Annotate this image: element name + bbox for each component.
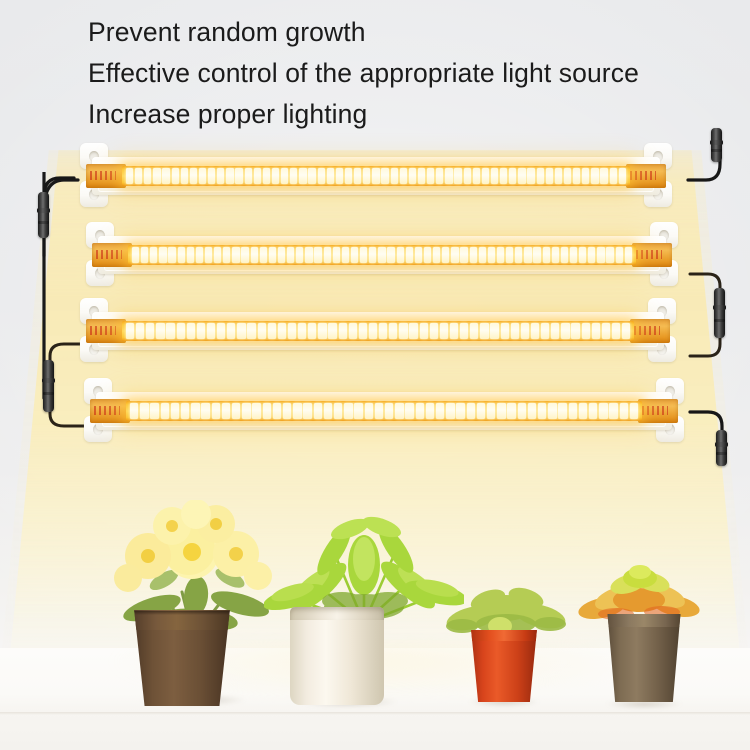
led-segment <box>381 168 388 184</box>
led-segment <box>278 247 285 263</box>
led-segment <box>252 403 260 419</box>
led-segment <box>354 168 361 184</box>
pot-rim <box>130 610 234 630</box>
led-segment <box>473 168 480 184</box>
led-segment <box>409 323 417 339</box>
led-array <box>125 323 631 339</box>
led-segment <box>227 323 235 339</box>
led-segment <box>126 168 133 184</box>
led-segment <box>426 403 434 419</box>
led-segment <box>365 403 373 419</box>
led-segment <box>260 247 267 263</box>
led-segment <box>555 168 562 184</box>
led-segment <box>500 168 507 184</box>
led-segment <box>387 247 394 263</box>
plant-fern: green fern <box>272 495 462 700</box>
product-image-scene: Prevent random growth Effective control … <box>0 0 750 750</box>
led-segment <box>146 323 154 339</box>
led-segment <box>197 323 205 339</box>
led-segment <box>187 323 195 339</box>
table-edge-line <box>0 712 750 715</box>
led-segment <box>451 247 458 263</box>
led-segment <box>208 168 215 184</box>
headline-line-3: Increase proper lighting <box>88 94 728 135</box>
led-segment <box>268 323 276 339</box>
led-segment <box>597 247 604 263</box>
led-segment <box>161 403 169 419</box>
led-segment <box>360 247 367 263</box>
led-segment <box>477 403 485 419</box>
led-segment <box>132 247 139 263</box>
led-segment <box>406 247 413 263</box>
led-segment <box>327 168 334 184</box>
led-segment <box>625 247 632 263</box>
led-segment <box>273 403 281 419</box>
led-segment <box>521 323 529 339</box>
led-segment <box>399 323 407 339</box>
led-segment <box>140 403 148 419</box>
led-segment <box>433 247 440 263</box>
led-segment <box>363 168 370 184</box>
led-segment <box>497 403 505 419</box>
led-segment <box>569 403 577 419</box>
led-segment <box>415 247 422 263</box>
led-segment <box>299 168 306 184</box>
led-segment <box>296 247 303 263</box>
driver-module <box>92 243 132 267</box>
plant-succulent: succulent rosette <box>580 556 710 706</box>
pot-rim <box>469 630 539 641</box>
led-segment <box>245 168 252 184</box>
led-segment <box>531 323 539 339</box>
led-segment <box>588 247 595 263</box>
led-segment <box>308 323 316 339</box>
led-segment <box>551 323 559 339</box>
led-segment <box>156 323 164 339</box>
led-segment <box>232 403 240 419</box>
led-segment <box>150 403 158 419</box>
led-segment <box>395 403 403 419</box>
led-segment <box>223 247 230 263</box>
led-segment <box>258 323 266 339</box>
led-segment <box>491 168 498 184</box>
led-array <box>125 168 627 184</box>
led-segment <box>501 323 509 339</box>
led-segment <box>616 247 623 263</box>
led-segment <box>379 323 387 339</box>
led-segment <box>543 247 550 263</box>
led-segment <box>592 323 600 339</box>
led-segment <box>359 323 367 339</box>
led-segment <box>537 168 544 184</box>
led-segment <box>196 247 203 263</box>
plant-small-leafy: small leafy plant <box>448 578 568 703</box>
led-strip <box>122 166 630 186</box>
led-segment <box>488 247 495 263</box>
led-array <box>129 403 639 419</box>
led-segment <box>506 247 513 263</box>
led-segment <box>171 403 179 419</box>
led-segment <box>187 247 194 263</box>
connector-top-left[interactable] <box>38 192 49 238</box>
led-segment <box>479 247 486 263</box>
led-segment <box>602 323 610 339</box>
led-segment <box>460 323 468 339</box>
led-segment <box>375 403 383 419</box>
light-bar-2[interactable]: LED grow light bar 2 <box>64 222 700 286</box>
connector-left-link[interactable] <box>43 360 54 412</box>
led-segment <box>251 247 258 263</box>
led-segment <box>232 247 239 263</box>
led-segment <box>272 168 279 184</box>
led-segment <box>480 323 488 339</box>
led-segment <box>548 403 556 419</box>
led-segment <box>324 247 331 263</box>
led-segment <box>620 403 628 419</box>
led-segment <box>135 168 142 184</box>
driver-module <box>630 319 670 343</box>
led-segment <box>436 403 444 419</box>
led-segment <box>591 168 598 184</box>
led-segment <box>281 168 288 184</box>
headline-block: Prevent random growth Effective control … <box>88 12 728 135</box>
led-segment <box>464 168 471 184</box>
led-segment <box>552 247 559 263</box>
led-segment <box>168 247 175 263</box>
led-segment <box>573 168 580 184</box>
led-segment <box>470 323 478 339</box>
led-segment <box>351 247 358 263</box>
led-segment <box>199 168 206 184</box>
led-segment <box>166 323 174 339</box>
led-segment <box>427 168 434 184</box>
led-segment <box>420 323 428 339</box>
light-bar-3[interactable]: LED grow light bar 3 <box>58 298 698 362</box>
led-segment <box>237 323 245 339</box>
led-segment <box>482 168 489 184</box>
headline-line-1: Prevent random growth <box>88 12 728 53</box>
led-segment <box>235 168 242 184</box>
led-segment <box>278 323 286 339</box>
led-segment <box>336 168 343 184</box>
led-segment <box>217 323 225 339</box>
led-segment <box>397 247 404 263</box>
led-segment <box>324 403 332 419</box>
led-segment <box>345 168 352 184</box>
led-segment <box>201 403 209 419</box>
plant-yellow-flowers: yellow flowering plant <box>110 500 290 700</box>
led-segment <box>318 168 325 184</box>
led-segment <box>354 403 362 419</box>
led-segment <box>582 323 590 339</box>
led-array <box>131 247 633 263</box>
led-segment <box>533 247 540 263</box>
led-segment <box>144 168 151 184</box>
led-segment <box>241 247 248 263</box>
led-segment <box>247 323 255 339</box>
led-segment <box>172 168 179 184</box>
led-segment <box>527 168 534 184</box>
led-segment <box>162 168 169 184</box>
led-segment <box>460 247 467 263</box>
led-segment <box>507 403 515 419</box>
led-segment <box>372 168 379 184</box>
led-segment <box>141 247 148 263</box>
led-segment <box>349 323 357 339</box>
led-segment <box>518 403 526 419</box>
connector-right-link[interactable] <box>714 288 725 338</box>
led-segment <box>561 323 569 339</box>
small-plant-foliage-icon <box>442 578 572 638</box>
led-segment <box>181 168 188 184</box>
led-segment <box>293 403 301 419</box>
led-segment <box>159 247 166 263</box>
led-segment <box>150 247 157 263</box>
led-strip <box>122 321 634 341</box>
led-segment <box>334 403 342 419</box>
led-segment <box>430 323 438 339</box>
driver-module <box>626 164 666 188</box>
led-segment <box>181 403 189 419</box>
led-segment <box>416 403 424 419</box>
led-segment <box>303 403 311 419</box>
led-segment <box>467 403 475 419</box>
led-segment <box>528 403 536 419</box>
led-segment <box>610 168 617 184</box>
led-segment <box>369 323 377 339</box>
led-segment <box>405 403 413 419</box>
led-segment <box>487 403 495 419</box>
pot-cream <box>290 607 384 705</box>
led-segment <box>333 247 340 263</box>
driver-module <box>638 399 678 423</box>
led-segment <box>511 323 519 339</box>
pot-brown <box>130 610 234 706</box>
led-segment <box>288 323 296 339</box>
led-segment <box>153 168 160 184</box>
pot-rim <box>606 614 682 627</box>
led-segment <box>269 247 276 263</box>
led-segment <box>308 168 315 184</box>
led-segment <box>130 403 138 419</box>
pot-terracotta <box>469 630 539 702</box>
led-segment <box>564 168 571 184</box>
led-segment <box>599 403 607 419</box>
led-segment <box>391 168 398 184</box>
led-segment <box>470 247 477 263</box>
driver-module <box>90 399 130 423</box>
led-segment <box>389 323 397 339</box>
led-segment <box>612 323 620 339</box>
led-segment <box>314 247 321 263</box>
led-segment <box>582 168 589 184</box>
led-segment <box>222 403 230 419</box>
led-segment <box>538 403 546 419</box>
led-segment <box>440 323 448 339</box>
led-segment <box>497 247 504 263</box>
led-segment <box>205 247 212 263</box>
led-segment <box>369 247 376 263</box>
led-segment <box>339 323 347 339</box>
led-segment <box>318 323 326 339</box>
headline-line-2: Effective control of the appropriate lig… <box>88 53 728 94</box>
pot-rim <box>290 607 384 620</box>
led-segment <box>450 323 458 339</box>
led-segment <box>290 168 297 184</box>
led-segment <box>263 168 270 184</box>
led-segment <box>630 403 638 419</box>
led-segment <box>571 323 579 339</box>
led-segment <box>490 323 498 339</box>
connector-top-right[interactable] <box>711 128 722 162</box>
led-segment <box>298 323 306 339</box>
led-segment <box>242 403 250 419</box>
led-segment <box>524 247 531 263</box>
led-segment <box>589 403 597 419</box>
led-segment <box>344 403 352 419</box>
light-bar-4[interactable]: LED grow light bar 4 <box>62 378 706 442</box>
led-segment <box>191 403 199 419</box>
led-segment <box>385 403 393 419</box>
led-segment <box>178 247 185 263</box>
fern-foliage-icon <box>264 495 464 625</box>
led-segment <box>558 403 566 419</box>
led-segment <box>136 323 144 339</box>
led-segment <box>212 403 220 419</box>
pot-square <box>606 614 682 702</box>
led-segment <box>409 168 416 184</box>
driver-module <box>86 319 126 343</box>
led-segment <box>287 247 294 263</box>
connector-bottom-right[interactable] <box>716 430 727 466</box>
led-segment <box>579 403 587 419</box>
led-strip <box>126 401 642 421</box>
led-segment <box>378 247 385 263</box>
led-segment <box>177 323 185 339</box>
led-segment <box>515 247 522 263</box>
led-segment <box>561 247 568 263</box>
led-segment <box>314 403 322 419</box>
led-segment <box>622 323 630 339</box>
led-segment <box>305 247 312 263</box>
led-segment <box>254 168 261 184</box>
led-segment <box>342 247 349 263</box>
led-segment <box>418 168 425 184</box>
led-segment <box>619 168 626 184</box>
led-segment <box>126 323 134 339</box>
led-segment <box>579 247 586 263</box>
led-segment <box>570 247 577 263</box>
led-segment <box>546 168 553 184</box>
led-segment <box>446 403 454 419</box>
led-segment <box>456 403 464 419</box>
led-segment <box>609 403 617 419</box>
led-segment <box>328 323 336 339</box>
led-segment <box>454 168 461 184</box>
led-segment <box>214 247 221 263</box>
led-segment <box>400 168 407 184</box>
led-segment <box>509 168 516 184</box>
led-segment <box>263 403 271 419</box>
led-segment <box>518 168 525 184</box>
light-bar-1[interactable]: LED grow light bar 1 <box>58 143 694 207</box>
led-segment <box>283 403 291 419</box>
led-segment <box>600 168 607 184</box>
driver-module <box>86 164 126 188</box>
driver-module <box>632 243 672 267</box>
led-segment <box>226 168 233 184</box>
led-segment <box>190 168 197 184</box>
led-segment <box>606 247 613 263</box>
led-segment <box>541 323 549 339</box>
led-segment <box>442 247 449 263</box>
led-segment <box>436 168 443 184</box>
led-segment <box>424 247 431 263</box>
led-segment <box>217 168 224 184</box>
led-segment <box>207 323 215 339</box>
led-strip <box>128 245 636 265</box>
led-segment <box>445 168 452 184</box>
